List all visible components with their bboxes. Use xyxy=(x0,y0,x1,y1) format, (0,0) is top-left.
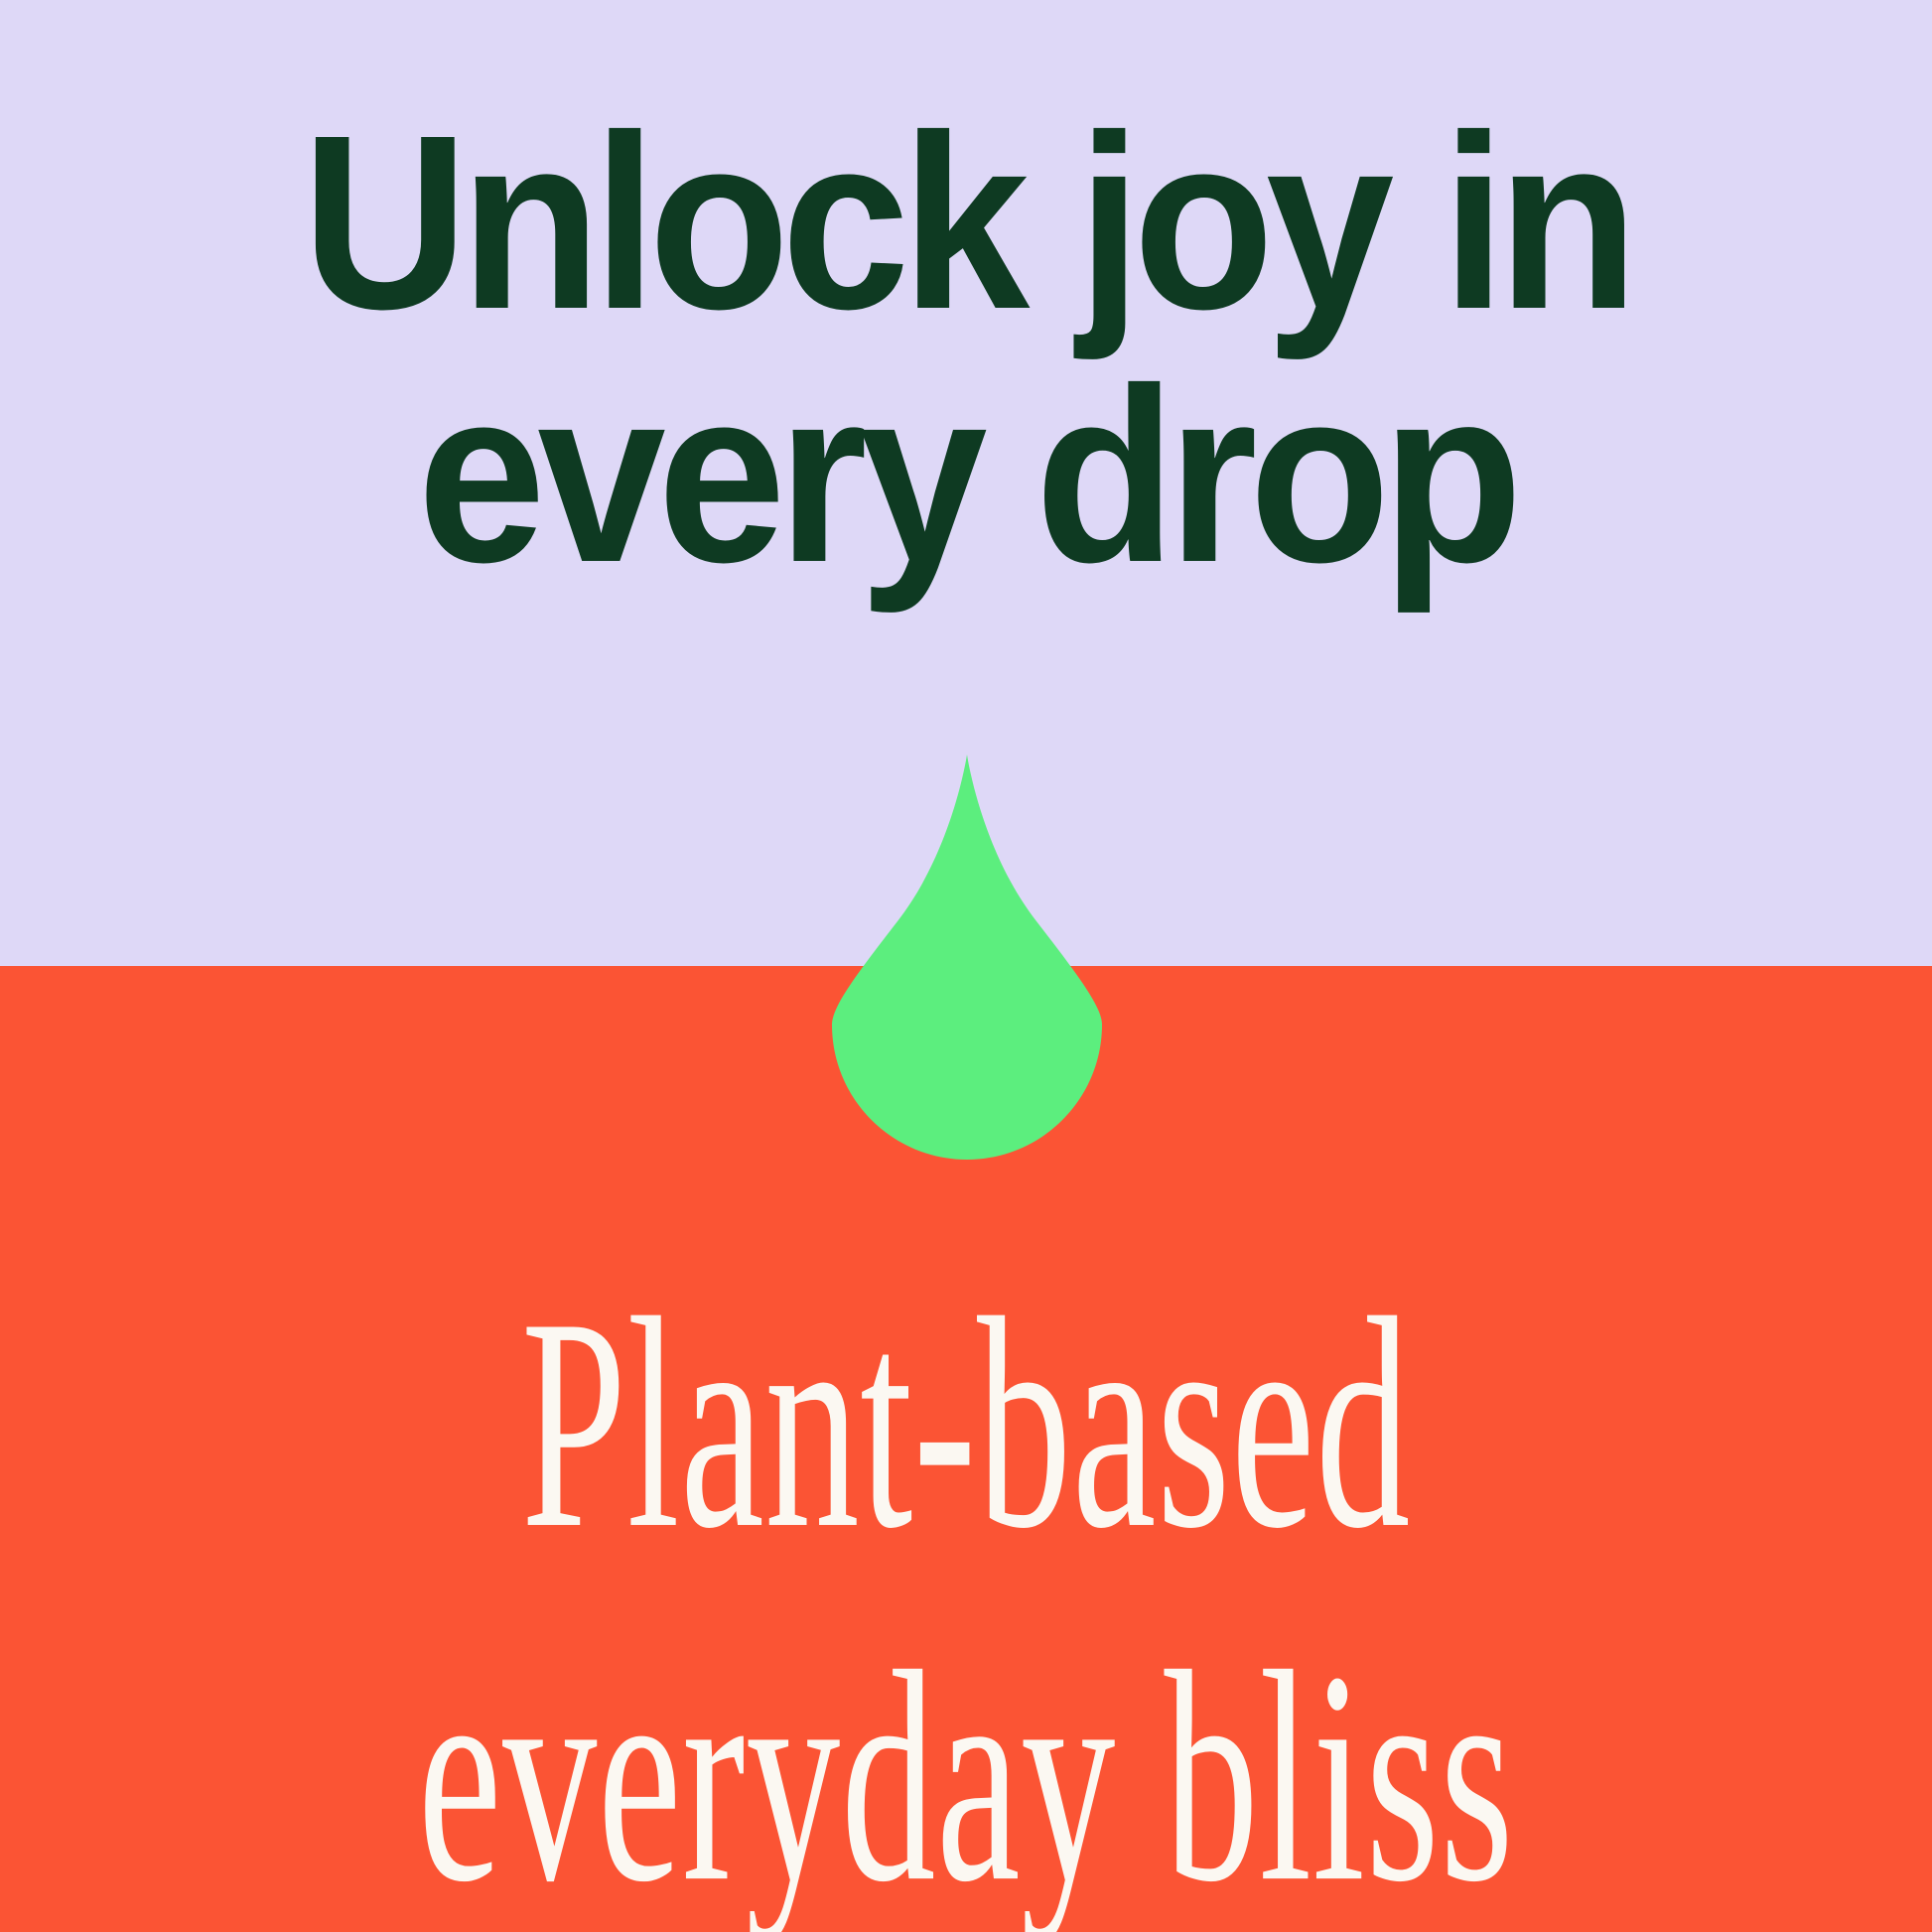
headline-line-2: every drop xyxy=(68,348,1864,602)
subhead-line-2: everyday bliss xyxy=(290,1600,1642,1932)
headline: Unlock joy in every drop xyxy=(68,95,1864,602)
headline-line-1: Unlock joy in xyxy=(68,95,1864,348)
subhead-line-1: Plant-based xyxy=(290,1247,1642,1600)
subhead: Plant-based everyday bliss xyxy=(290,1247,1642,1932)
promo-poster: Unlock joy in every drop Plant-based eve… xyxy=(0,0,1932,1932)
water-drop-icon xyxy=(832,755,1102,1162)
